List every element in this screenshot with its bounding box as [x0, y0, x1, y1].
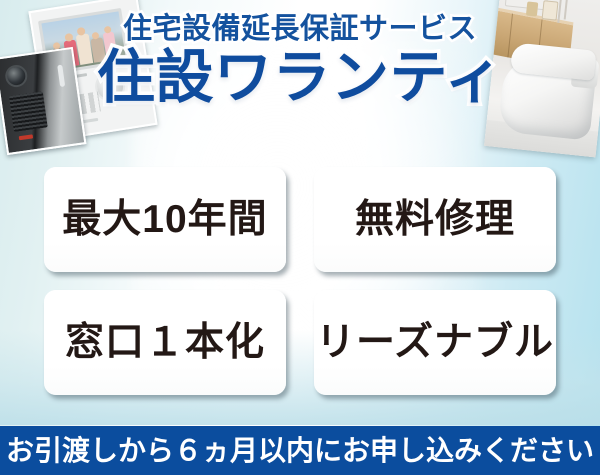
- shelf-rod: [564, 0, 568, 20]
- banner-text: お引渡しから６ヵ月以内にお申し込みください: [6, 437, 594, 465]
- shelf-jar: [526, 1, 538, 16]
- door-station-strip: [57, 65, 65, 87]
- feature-label: 無料修理: [355, 200, 515, 239]
- cabinet-door-seam: [507, 14, 513, 58]
- toilet-fixture-photo: [484, 0, 600, 157]
- promo-poster: 住宅設備延長保証サービス 住設ワランティ 最大10年間 無料修理 窓口１本化 リ…: [0, 0, 600, 475]
- feature-card-reasonable[interactable]: リーズナブル: [314, 290, 556, 395]
- camera-lens-icon: [4, 64, 29, 89]
- door-station-speaker: [9, 92, 48, 132]
- toilet-body: [498, 55, 597, 140]
- toilet-lid: [510, 42, 597, 81]
- feature-label: リーズナブル: [316, 323, 554, 362]
- feature-card-max-10-years[interactable]: 最大10年間: [44, 167, 286, 272]
- feature-card-free-repair[interactable]: 無料修理: [314, 167, 556, 272]
- feature-card-single-contact[interactable]: 窓口１本化: [44, 290, 286, 395]
- shelf-box: [542, 0, 559, 20]
- feature-label: 最大10年間: [62, 200, 267, 239]
- feature-label: 窓口１本化: [65, 323, 265, 362]
- application-deadline-banner: お引渡しから６ヵ月以内にお申し込みください: [0, 426, 600, 475]
- feature-card-grid: 最大10年間 無料修理 窓口１本化 リーズナブル: [44, 167, 556, 395]
- door-call-button: [19, 134, 33, 140]
- intercom-outdoor-station-photo: [0, 47, 86, 155]
